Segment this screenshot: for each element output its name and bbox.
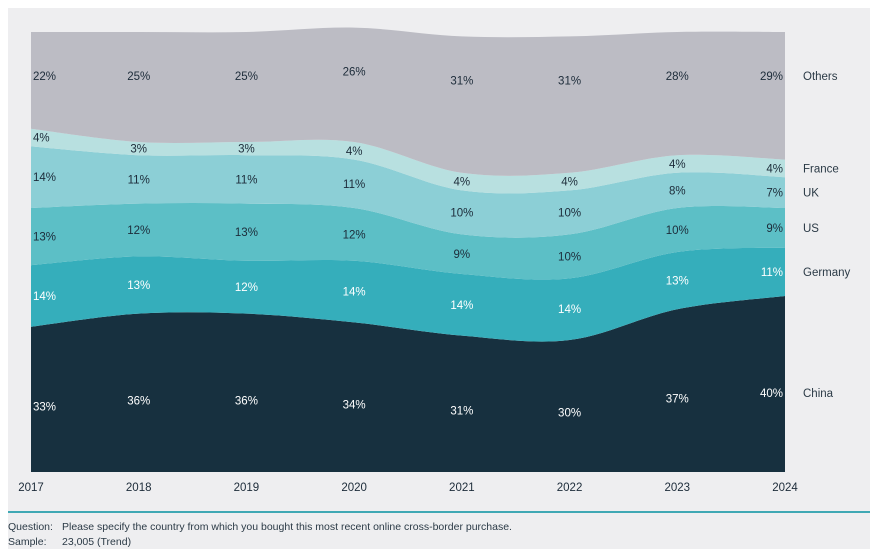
- value-label-uk-2020: 11%: [343, 179, 365, 191]
- value-label-france-2024: 4%: [766, 163, 783, 175]
- chart-card: 33%36%36%34%31%30%37%40%14%13%12%14%14%1…: [8, 8, 870, 549]
- value-label-uk-2022: 10%: [558, 207, 581, 219]
- value-label-us-2022: 10%: [558, 251, 581, 263]
- value-label-china-2024: 40%: [760, 388, 783, 400]
- value-label-us-2018: 12%: [127, 225, 150, 237]
- value-label-us-2024: 9%: [766, 223, 783, 235]
- value-label-germany-2017: 14%: [33, 291, 56, 303]
- value-label-germany-2021: 14%: [450, 300, 473, 312]
- x-axis-tick-2018: 2018: [126, 482, 152, 494]
- value-label-germany-2023: 13%: [666, 276, 689, 288]
- value-label-us-2019: 13%: [235, 227, 258, 239]
- value-label-france-2018: 3%: [130, 144, 147, 156]
- value-label-us-2023: 10%: [666, 225, 689, 237]
- footnote-sample-value: 23,005 (Trend): [62, 535, 870, 550]
- footnote-question-value: Please specify the country from which yo…: [62, 520, 870, 535]
- footnote-question-key: Question:: [8, 520, 62, 535]
- value-label-others-2023: 28%: [666, 71, 689, 83]
- x-axis-tick-2020: 2020: [341, 482, 367, 494]
- x-axis-tick-2024: 2024: [772, 482, 798, 494]
- x-axis-tick-2019: 2019: [234, 482, 260, 494]
- value-label-france-2023: 4%: [669, 159, 686, 171]
- footnote-block: Question: Please specify the country fro…: [8, 520, 870, 550]
- value-label-germany-2022: 14%: [558, 304, 581, 316]
- value-label-china-2019: 36%: [235, 396, 258, 408]
- screenshot-root: 33%36%36%34%31%30%37%40%14%13%12%14%14%1…: [0, 0, 878, 557]
- legend-label-china: China: [803, 388, 834, 400]
- legend-label-us: US: [803, 223, 819, 235]
- value-label-china-2017: 33%: [33, 402, 56, 414]
- x-axis-tick-2022: 2022: [557, 482, 583, 494]
- value-label-china-2023: 37%: [666, 394, 689, 406]
- legend-label-france: France: [803, 163, 839, 175]
- footnote-question-row: Question: Please specify the country fro…: [8, 520, 870, 535]
- value-label-germany-2020: 14%: [343, 287, 366, 299]
- value-label-uk-2018: 11%: [128, 174, 150, 186]
- x-axis-tick-2021: 2021: [449, 482, 475, 494]
- x-axis-group: 20172018201920202021202220232024: [18, 482, 798, 494]
- value-label-others-2017: 22%: [33, 71, 56, 83]
- value-label-others-2020: 26%: [343, 67, 366, 79]
- x-axis-tick-2017: 2017: [18, 482, 44, 494]
- value-label-china-2021: 31%: [450, 406, 473, 418]
- value-label-china-2018: 36%: [127, 396, 150, 408]
- value-label-france-2019: 3%: [238, 144, 255, 156]
- footnote-divider: [8, 511, 870, 513]
- value-label-others-2021: 31%: [450, 75, 473, 87]
- value-label-uk-2023: 8%: [669, 185, 686, 197]
- footnote-sample-key: Sample:: [8, 535, 62, 550]
- value-label-germany-2019: 12%: [235, 282, 258, 294]
- value-label-us-2021: 9%: [454, 249, 471, 261]
- x-axis-tick-2023: 2023: [664, 482, 690, 494]
- legend-label-uk: UK: [803, 188, 819, 200]
- stacked-area-chart: 33%36%36%34%31%30%37%40%14%13%12%14%14%1…: [8, 8, 870, 503]
- footnote-sample-row: Sample: 23,005 (Trend): [8, 535, 870, 550]
- value-label-uk-2024: 7%: [766, 188, 783, 200]
- value-label-uk-2017: 14%: [33, 172, 56, 184]
- legend-group: OthersFranceUKUSGermanyChina: [803, 71, 851, 400]
- value-label-china-2020: 34%: [343, 400, 366, 412]
- value-label-china-2022: 30%: [558, 408, 581, 420]
- value-label-france-2020: 4%: [346, 146, 363, 158]
- value-label-france-2021: 4%: [454, 177, 471, 189]
- area-chart-svg: 33%36%36%34%31%30%37%40%14%13%12%14%14%1…: [8, 8, 870, 503]
- legend-label-germany: Germany: [803, 267, 851, 279]
- value-label-us-2020: 12%: [343, 229, 366, 241]
- value-label-france-2017: 4%: [33, 133, 50, 145]
- legend-label-others: Others: [803, 71, 838, 83]
- value-label-others-2024: 29%: [760, 71, 783, 83]
- value-label-us-2017: 13%: [33, 232, 56, 244]
- value-label-germany-2018: 13%: [127, 280, 150, 292]
- value-label-others-2018: 25%: [127, 71, 150, 83]
- value-label-uk-2019: 11%: [235, 174, 257, 186]
- value-label-others-2019: 25%: [235, 71, 258, 83]
- value-label-others-2022: 31%: [558, 75, 581, 87]
- value-label-germany-2024: 11%: [761, 267, 783, 279]
- value-label-uk-2021: 10%: [450, 207, 473, 219]
- value-label-france-2022: 4%: [561, 177, 578, 189]
